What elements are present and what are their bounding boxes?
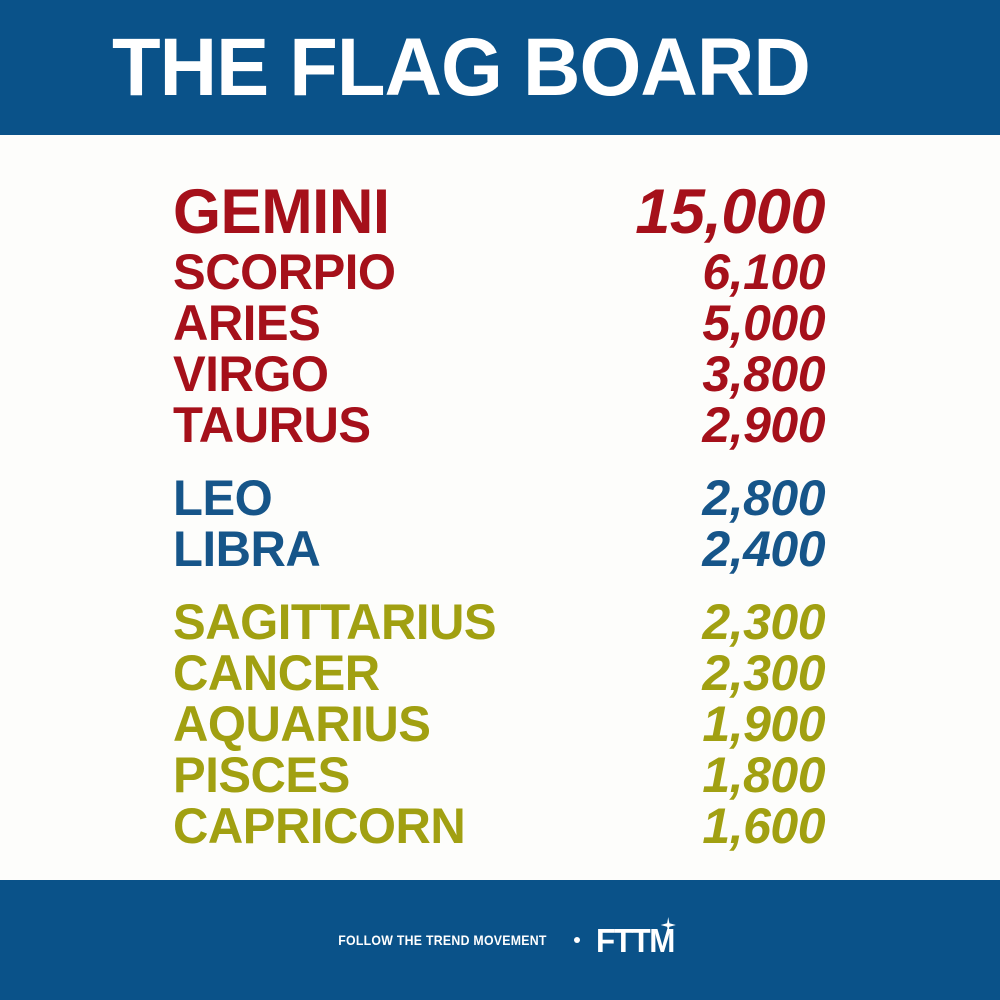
board-list: GEMINI 15,000 SCORPIO 6,100 ARIES 5,000 … [0,135,1000,880]
list-item[interactable]: LIBRA 2,400 [0,524,1000,575]
sign-value: 1,600 [625,801,825,852]
page-title: THE FLAG BOARD [112,27,810,109]
list-item[interactable]: LEO 2,800 [0,473,1000,524]
sign-value: 1,900 [625,699,825,750]
sign-name: ARIES [173,298,616,349]
sign-value: 3,800 [625,349,825,400]
sign-value: 1,800 [625,750,825,801]
list-item[interactable]: GEMINI 15,000 [0,177,1000,247]
list-item[interactable]: CAPRICORN 1,600 [0,801,1000,852]
sign-name: CAPRICORN [173,801,616,852]
list-item[interactable]: PISCES 1,800 [0,750,1000,801]
sign-name: LEO [173,473,616,524]
sign-name: SAGITTARIUS [173,597,616,648]
list-item[interactable]: TAURUS 2,900 [0,400,1000,451]
sign-value: 2,300 [625,597,825,648]
sign-value: 2,300 [625,648,825,699]
footer-tagline: FOLLOW THE TREND MOVEMENT [338,932,547,948]
list-item[interactable]: VIRGO 3,800 [0,349,1000,400]
sign-name: CANCER [173,648,616,699]
footer-banner: FOLLOW THE TREND MOVEMENT FTTM [0,880,1000,1000]
sign-value: 6,100 [625,247,825,298]
sparkle-icon [661,917,676,933]
sign-name: TAURUS [173,400,616,451]
sign-name: AQUARIUS [173,699,616,750]
sign-value: 2,800 [625,473,825,524]
list-item[interactable]: ARIES 5,000 [0,298,1000,349]
list-item[interactable]: SCORPIO 6,100 [0,247,1000,298]
flag-board-graphic: THE FLAG BOARD GEMINI 15,000 SCORPIO 6,1… [0,0,1000,1000]
list-item[interactable]: AQUARIUS 1,900 [0,699,1000,750]
sign-value: 5,000 [625,298,825,349]
group-blue: LEO 2,800 LIBRA 2,400 [0,473,1000,575]
group-red: GEMINI 15,000 SCORPIO 6,100 ARIES 5,000 … [0,177,1000,451]
list-item[interactable]: SAGITTARIUS 2,300 [0,597,1000,648]
sign-name: LIBRA [173,524,616,575]
bullet-dot-icon [574,937,580,943]
sign-name: PISCES [173,750,616,801]
header-banner: THE FLAG BOARD [0,0,1000,135]
group-olive: SAGITTARIUS 2,300 CANCER 2,300 AQUARIUS … [0,597,1000,852]
fttm-logo: FTTM [597,924,675,957]
sign-name: GEMINI [173,177,616,247]
list-item[interactable]: CANCER 2,300 [0,648,1000,699]
sign-name: SCORPIO [173,247,616,298]
sign-name: VIRGO [173,349,616,400]
sign-value: 2,900 [625,400,825,451]
sign-value: 2,400 [625,524,825,575]
sign-value: 15,000 [625,177,825,247]
